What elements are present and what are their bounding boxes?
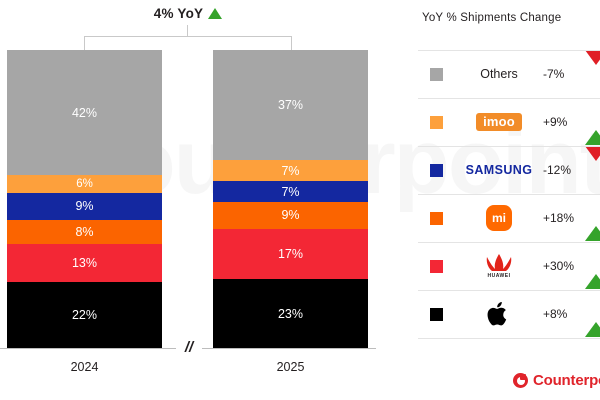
legend-swatch-icon: [430, 308, 443, 321]
chart-panel: 4% YoY 42%6%9%8%13%22% 37%7%7%9%17%23% /…: [0, 0, 410, 400]
legend-row-xiaomi[interactable]: mi+18%: [410, 194, 600, 242]
legend-panel: YoY % Shipments Change Others-7%imoo+9%S…: [410, 0, 600, 400]
triangle-up-icon-wrap: [585, 257, 600, 275]
counterpoint-logo: Counterpoint: [513, 372, 600, 389]
triangle-up-icon: [585, 113, 600, 145]
huawei-logo-icon: HUAWEI: [455, 253, 543, 279]
legend-divider: [418, 146, 600, 147]
triangle-up-icon: [208, 8, 222, 19]
triangle-up-icon: [585, 305, 600, 337]
apple-logo-icon: [455, 300, 543, 328]
legend-swatch-icon: [430, 68, 443, 81]
bar-segment-label: 23%: [278, 307, 303, 321]
triangle-up-icon-wrap: [585, 305, 600, 323]
legend-change-value: -12%: [543, 163, 583, 177]
legend-row-apple[interactable]: +8%: [410, 290, 600, 338]
bar-segment-2024-apple: 22%: [7, 282, 162, 348]
imoo-logo-text: imoo: [476, 113, 522, 131]
triangle-down-icon: [585, 50, 600, 82]
bar-segment-2025-samsung: 7%: [213, 181, 368, 202]
legend-title: YoY % Shipments Change: [422, 12, 561, 24]
stacked-bar-2025: 37%7%7%9%17%23%: [213, 50, 368, 348]
legend-divider: [418, 98, 600, 99]
imoo-logo-icon: imoo: [455, 113, 543, 131]
legend-row-huawei[interactable]: HUAWEI+30%: [410, 242, 600, 290]
bar-segment-label: 9%: [75, 199, 93, 213]
triangle-down-icon-wrap: [585, 65, 600, 83]
huawei-mark: HUAWEI: [484, 253, 514, 279]
bar-segment-label: 6%: [76, 178, 93, 190]
brand-text: Others: [480, 67, 518, 81]
legend-swatch-icon: [430, 260, 443, 273]
xiaomi-logo-icon: mi: [455, 205, 543, 231]
bar-segment-label: 42%: [72, 106, 97, 120]
samsung-logo-icon: SAMSUNG: [455, 163, 543, 177]
samsung-logo-text: SAMSUNG: [466, 163, 533, 177]
bar-segment-2025-apple: 23%: [213, 279, 368, 348]
huawei-logo-text: HUAWEI: [488, 273, 511, 279]
stacked-bar-2024: 42%6%9%8%13%22%: [7, 50, 162, 348]
legend-row-samsung[interactable]: SAMSUNG-12%: [410, 146, 600, 194]
yoy-total-value: 4% YoY: [154, 6, 203, 21]
bar-segment-2024-huawei: 13%: [7, 244, 162, 283]
axis-break-marker: //: [176, 339, 202, 357]
bar-segment-2025-xiaomi: 9%: [213, 202, 368, 229]
triangle-up-icon: [585, 257, 600, 289]
legend-change-value: +18%: [543, 211, 583, 225]
legend-divider: [418, 290, 600, 291]
legend-divider: [418, 50, 600, 51]
legend-swatch-icon: [430, 164, 443, 177]
bar-segment-label: 7%: [281, 164, 299, 178]
xiaomi-logo-text: mi: [486, 205, 512, 231]
triangle-down-icon-wrap: [585, 161, 600, 179]
huawei-petal-icon: [484, 253, 514, 272]
legend-divider: [418, 242, 600, 243]
legend-divider: [418, 194, 600, 195]
bar-segment-label: 7%: [281, 185, 299, 199]
x-tick-label-2025: 2025: [213, 360, 368, 374]
bar-segment-label: 22%: [72, 308, 97, 322]
bracket-horizontal: [84, 36, 292, 37]
legend-change-value: +8%: [543, 307, 583, 321]
triangle-up-icon-wrap: [585, 113, 600, 131]
brand-label-others: Others: [455, 67, 543, 81]
x-tick-label-2024: 2024: [7, 360, 162, 374]
counterpoint-logo-icon: [513, 373, 528, 388]
bar-segment-label: 37%: [278, 98, 303, 112]
triangle-down-icon: [585, 146, 600, 178]
chart-root: Counterpoint 4% YoY 42%6%9%8%13%22% 37%7…: [0, 0, 600, 400]
bar-segment-2024-samsung: 9%: [7, 193, 162, 220]
triangle-up-icon-wrap: [585, 209, 600, 227]
counterpoint-logo-text: Counterpoint: [533, 372, 600, 389]
legend-row-others[interactable]: Others-7%: [410, 50, 600, 98]
bar-segment-2024-imoo: 6%: [7, 175, 162, 193]
bracket-left-tick: [84, 36, 85, 50]
legend-divider: [418, 338, 600, 339]
legend-change-value: -7%: [543, 67, 583, 81]
legend-row-imoo[interactable]: imoo+9%: [410, 98, 600, 146]
bar-segment-label: 17%: [278, 247, 303, 261]
bar-segment-2025-huawei: 17%: [213, 229, 368, 280]
bracket-right-tick: [291, 36, 292, 50]
legend-swatch-icon: [430, 212, 443, 225]
yoy-total-label: 4% YoY: [0, 6, 376, 21]
apple-mark-icon: [487, 300, 511, 328]
bar-segment-2025-others: 37%: [213, 50, 368, 160]
bar-segment-2024-xiaomi: 8%: [7, 220, 162, 244]
bar-segment-label: 9%: [281, 208, 299, 222]
legend-swatch-icon: [430, 116, 443, 129]
bar-segment-label: 13%: [72, 256, 97, 270]
legend-change-value: +9%: [543, 115, 583, 129]
bar-segment-label: 8%: [75, 225, 93, 239]
legend-change-value: +30%: [543, 259, 583, 273]
bar-segment-2025-imoo: 7%: [213, 160, 368, 181]
bar-segment-2024-others: 42%: [7, 50, 162, 175]
triangle-up-icon: [585, 209, 600, 241]
bracket-stem: [187, 25, 188, 36]
